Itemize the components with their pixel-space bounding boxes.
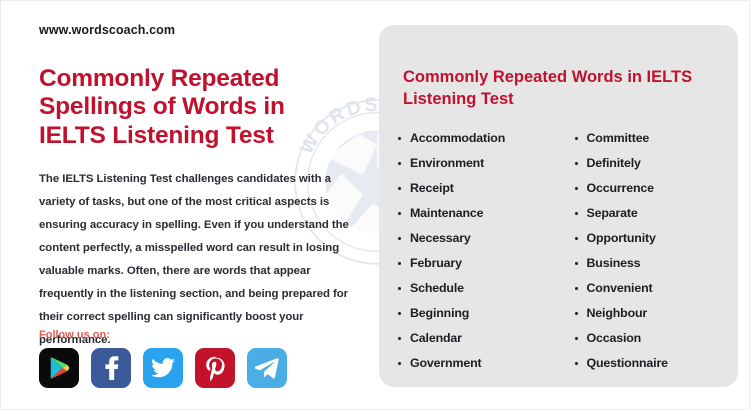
list-item: Business <box>574 251 733 276</box>
list-item: Receipt <box>397 176 560 201</box>
infographic-canvas: WORDS COACH www.wordscoach.com Commonly … <box>0 0 750 410</box>
list-item: Calendar <box>397 326 560 351</box>
list-item: Government <box>397 351 560 376</box>
google-play-icon[interactable] <box>39 348 79 388</box>
follow-us-label: Follow us on: <box>39 329 287 341</box>
left-content-column: www.wordscoach.com Commonly Repeated Spe… <box>39 23 357 352</box>
list-item: February <box>397 251 560 276</box>
list-item: Occasion <box>574 326 733 351</box>
list-item: Environment <box>397 151 560 176</box>
list-item: Convenient <box>574 276 733 301</box>
list-item: Necessary <box>397 226 560 251</box>
word-list-left: Accommodation Environment Receipt Mainte… <box>397 126 560 376</box>
word-columns: Accommodation Environment Receipt Mainte… <box>387 126 732 376</box>
word-list-right: Committee Definitely Occurrence Separate… <box>574 126 733 376</box>
pinterest-icon[interactable] <box>195 348 235 388</box>
twitter-icon[interactable] <box>143 348 183 388</box>
telegram-icon[interactable] <box>247 348 287 388</box>
word-column-left: Accommodation Environment Receipt Mainte… <box>387 126 560 376</box>
follow-us-block: Follow us on: <box>39 329 287 388</box>
facebook-icon[interactable] <box>91 348 131 388</box>
list-item: Definitely <box>574 151 733 176</box>
list-item: Beginning <box>397 301 560 326</box>
list-item: Committee <box>574 126 733 151</box>
list-item: Opportunity <box>574 226 733 251</box>
list-item: Separate <box>574 201 733 226</box>
intro-paragraph: The IELTS Listening Test challenges cand… <box>39 168 357 352</box>
site-url: www.wordscoach.com <box>39 23 357 37</box>
panel-title: Commonly Repeated Words in IELTS Listeni… <box>403 66 703 111</box>
list-item: Maintenance <box>397 201 560 226</box>
list-item: Neighbour <box>574 301 733 326</box>
list-item: Schedule <box>397 276 560 301</box>
page-title: Commonly Repeated Spellings of Words in … <box>39 65 357 150</box>
word-column-right: Committee Definitely Occurrence Separate… <box>560 126 733 376</box>
social-icon-row <box>39 348 287 388</box>
list-item: Questionnaire <box>574 351 733 376</box>
words-panel: Commonly Repeated Words in IELTS Listeni… <box>379 25 738 387</box>
list-item: Accommodation <box>397 126 560 151</box>
list-item: Occurrence <box>574 176 733 201</box>
